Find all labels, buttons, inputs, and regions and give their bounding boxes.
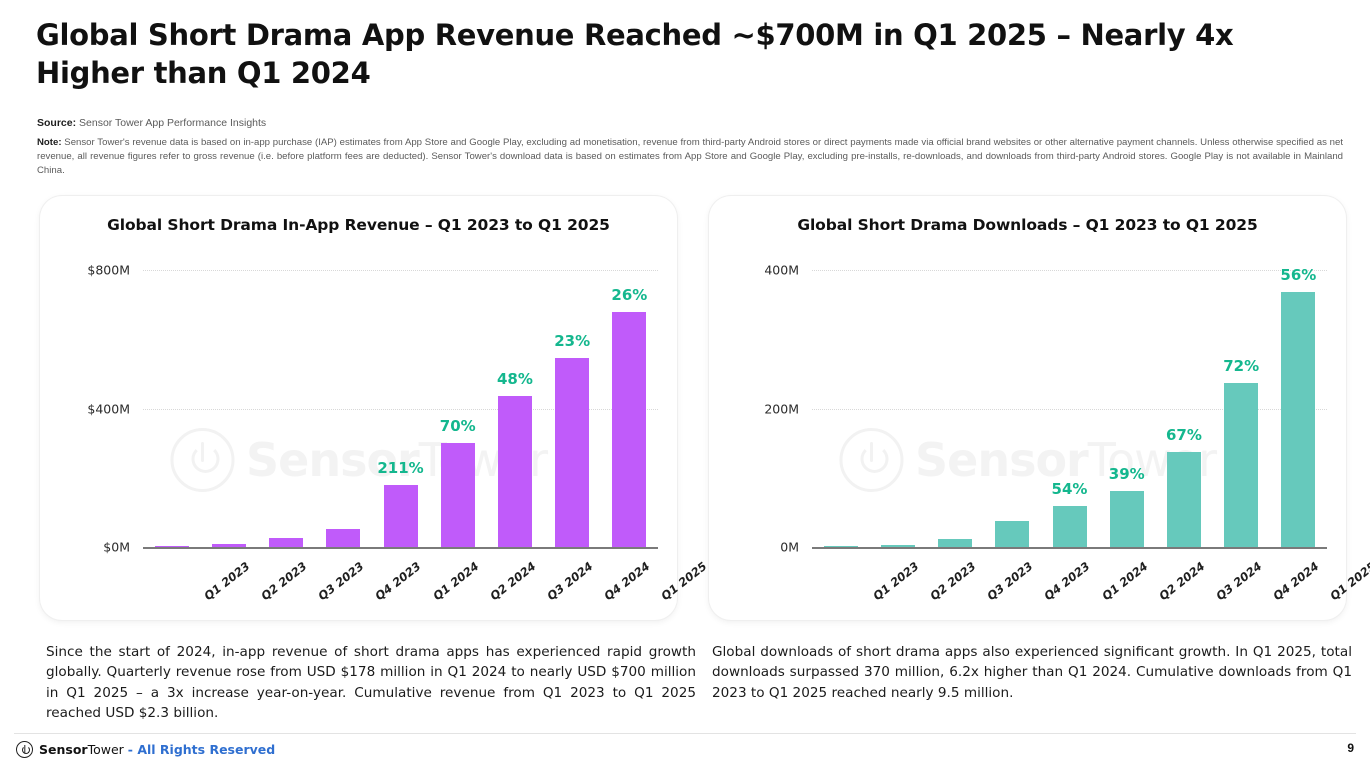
bar: [1224, 383, 1258, 547]
y-axis-tick-label: 0M: [727, 540, 799, 555]
y-axis-tick-label: $800M: [58, 263, 130, 278]
slide: Global Short Drama App Revenue Reached ~…: [0, 0, 1370, 760]
note-line: Note: Sensor Tower's revenue data is bas…: [37, 136, 1343, 178]
bar: [824, 546, 858, 547]
y-axis-tick-label: 400M: [727, 263, 799, 278]
bar-value-label: 70%: [440, 417, 476, 435]
bar: [995, 521, 1029, 547]
bar: [881, 545, 915, 547]
bar: [1167, 452, 1201, 547]
x-axis-tick-label: Q2 2023: [258, 559, 309, 603]
bar-value-label: 23%: [554, 332, 590, 350]
x-axis-tick-label: Q1 2023: [201, 559, 252, 603]
page-number: 9: [1347, 741, 1354, 755]
x-axis-tick-label: Q1 2024: [430, 559, 481, 603]
x-axis-line: [143, 547, 658, 549]
footer-brand-bold: Sensor: [39, 742, 88, 757]
downloads-caption: Global downloads of short drama apps als…: [712, 642, 1352, 703]
bar: [612, 312, 646, 547]
bar: [441, 443, 475, 547]
x-axis-tick-label: Q1 2023: [870, 559, 921, 603]
bar: [1110, 491, 1144, 547]
revenue-plot-area: $0M$400M$800MQ1 2023Q2 2023Q3 2023Q4 202…: [40, 196, 677, 620]
revenue-chart-card: Global Short Drama In-App Revenue – Q1 2…: [40, 196, 677, 620]
footer-brand-light: Tower: [88, 742, 124, 757]
bar: [326, 529, 360, 547]
bar: [1053, 506, 1087, 547]
x-axis-tick-label: Q2 2024: [487, 559, 538, 603]
footer-text: SensorTower - All Rights Reserved: [39, 742, 275, 757]
x-axis-tick-label: Q3 2023: [315, 559, 366, 603]
x-axis-tick-label: Q1 2024: [1099, 559, 1150, 603]
bar: [269, 538, 303, 547]
x-axis-tick-label: Q1 2025: [1328, 559, 1370, 603]
x-axis-tick-label: Q3 2024: [1213, 559, 1264, 603]
source-label: Source:: [37, 117, 76, 129]
x-axis-tick-label: Q4 2024: [602, 559, 653, 603]
bar: [938, 539, 972, 547]
y-axis-tick-label: $400M: [58, 401, 130, 416]
downloads-plot-area: 0M200M400MQ1 2023Q2 2023Q3 2023Q4 202354…: [709, 196, 1346, 620]
x-axis-tick-label: Q1 2025: [659, 559, 710, 603]
footer-rights: - All Rights Reserved: [128, 742, 275, 757]
bar: [384, 485, 418, 547]
bar: [155, 546, 189, 547]
footer-divider: [14, 733, 1356, 734]
footer-brand: SensorTower - All Rights Reserved: [16, 741, 275, 758]
sensor-tower-logo-icon: [16, 741, 33, 758]
x-axis-tick-label: Q3 2023: [984, 559, 1035, 603]
downloads-chart-card: Global Short Drama Downloads – Q1 2023 t…: [709, 196, 1346, 620]
bar: [212, 544, 246, 547]
x-axis-tick-label: Q3 2024: [544, 559, 595, 603]
revenue-caption: Since the start of 2024, in-app revenue …: [46, 642, 696, 724]
x-axis-tick-label: Q4 2024: [1271, 559, 1322, 603]
y-axis-tick-label: $0M: [58, 540, 130, 555]
x-axis-tick-label: Q4 2023: [373, 559, 424, 603]
bar: [555, 358, 589, 547]
bar-value-label: 211%: [377, 459, 423, 477]
page-title: Global Short Drama App Revenue Reached ~…: [36, 16, 1346, 93]
gridline: [812, 270, 1327, 271]
y-axis-tick-label: 200M: [727, 401, 799, 416]
bar-value-label: 48%: [497, 370, 533, 388]
x-axis-line: [812, 547, 1327, 549]
bar-value-label: 56%: [1280, 266, 1316, 284]
bar-value-label: 39%: [1109, 465, 1145, 483]
x-axis-tick-label: Q2 2024: [1156, 559, 1207, 603]
source-text: Sensor Tower App Performance Insights: [76, 117, 266, 129]
note-label: Note:: [37, 137, 62, 148]
note-text: Sensor Tower's revenue data is based on …: [37, 137, 1343, 176]
bar-value-label: 72%: [1223, 357, 1259, 375]
bar-value-label: 67%: [1166, 426, 1202, 444]
source-line: Source: Sensor Tower App Performance Ins…: [37, 116, 1343, 130]
x-axis-tick-label: Q4 2023: [1042, 559, 1093, 603]
x-axis-tick-label: Q2 2023: [927, 559, 978, 603]
bar-value-label: 26%: [611, 286, 647, 304]
bar: [1281, 292, 1315, 547]
source-note-block: Source: Sensor Tower App Performance Ins…: [37, 116, 1343, 178]
bar: [498, 396, 532, 547]
bar-value-label: 54%: [1052, 480, 1088, 498]
gridline: [143, 270, 658, 271]
